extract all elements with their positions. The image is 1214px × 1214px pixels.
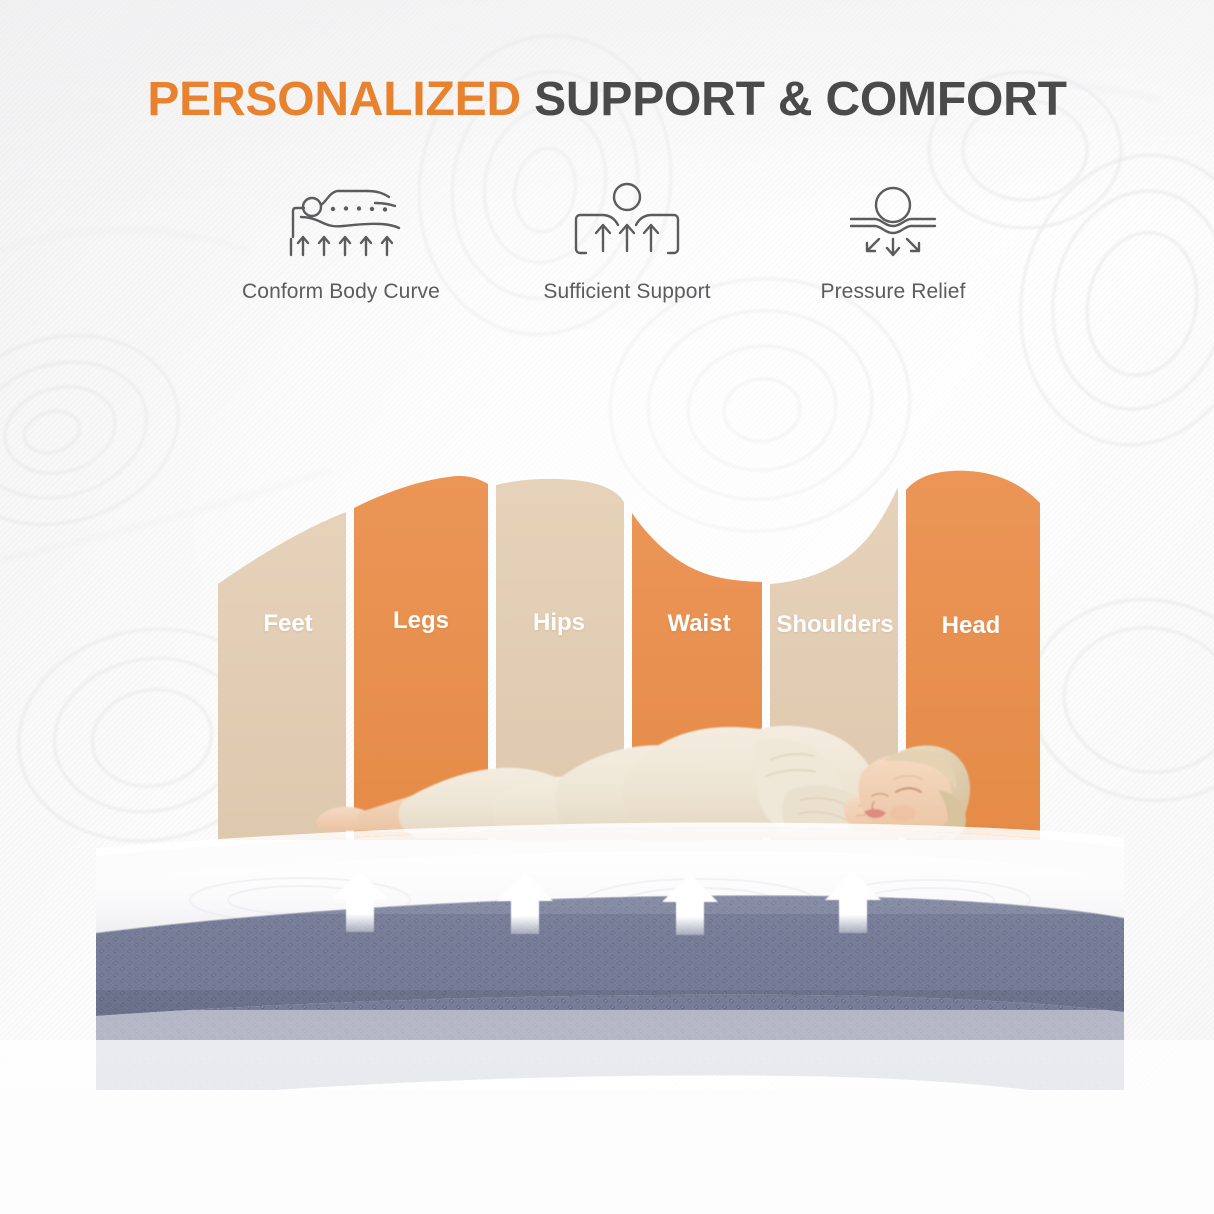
product-feature-graphic: PERSONALIZED SUPPORT & COMFORT (0, 0, 1214, 1214)
mattress (0, 0, 1214, 1214)
